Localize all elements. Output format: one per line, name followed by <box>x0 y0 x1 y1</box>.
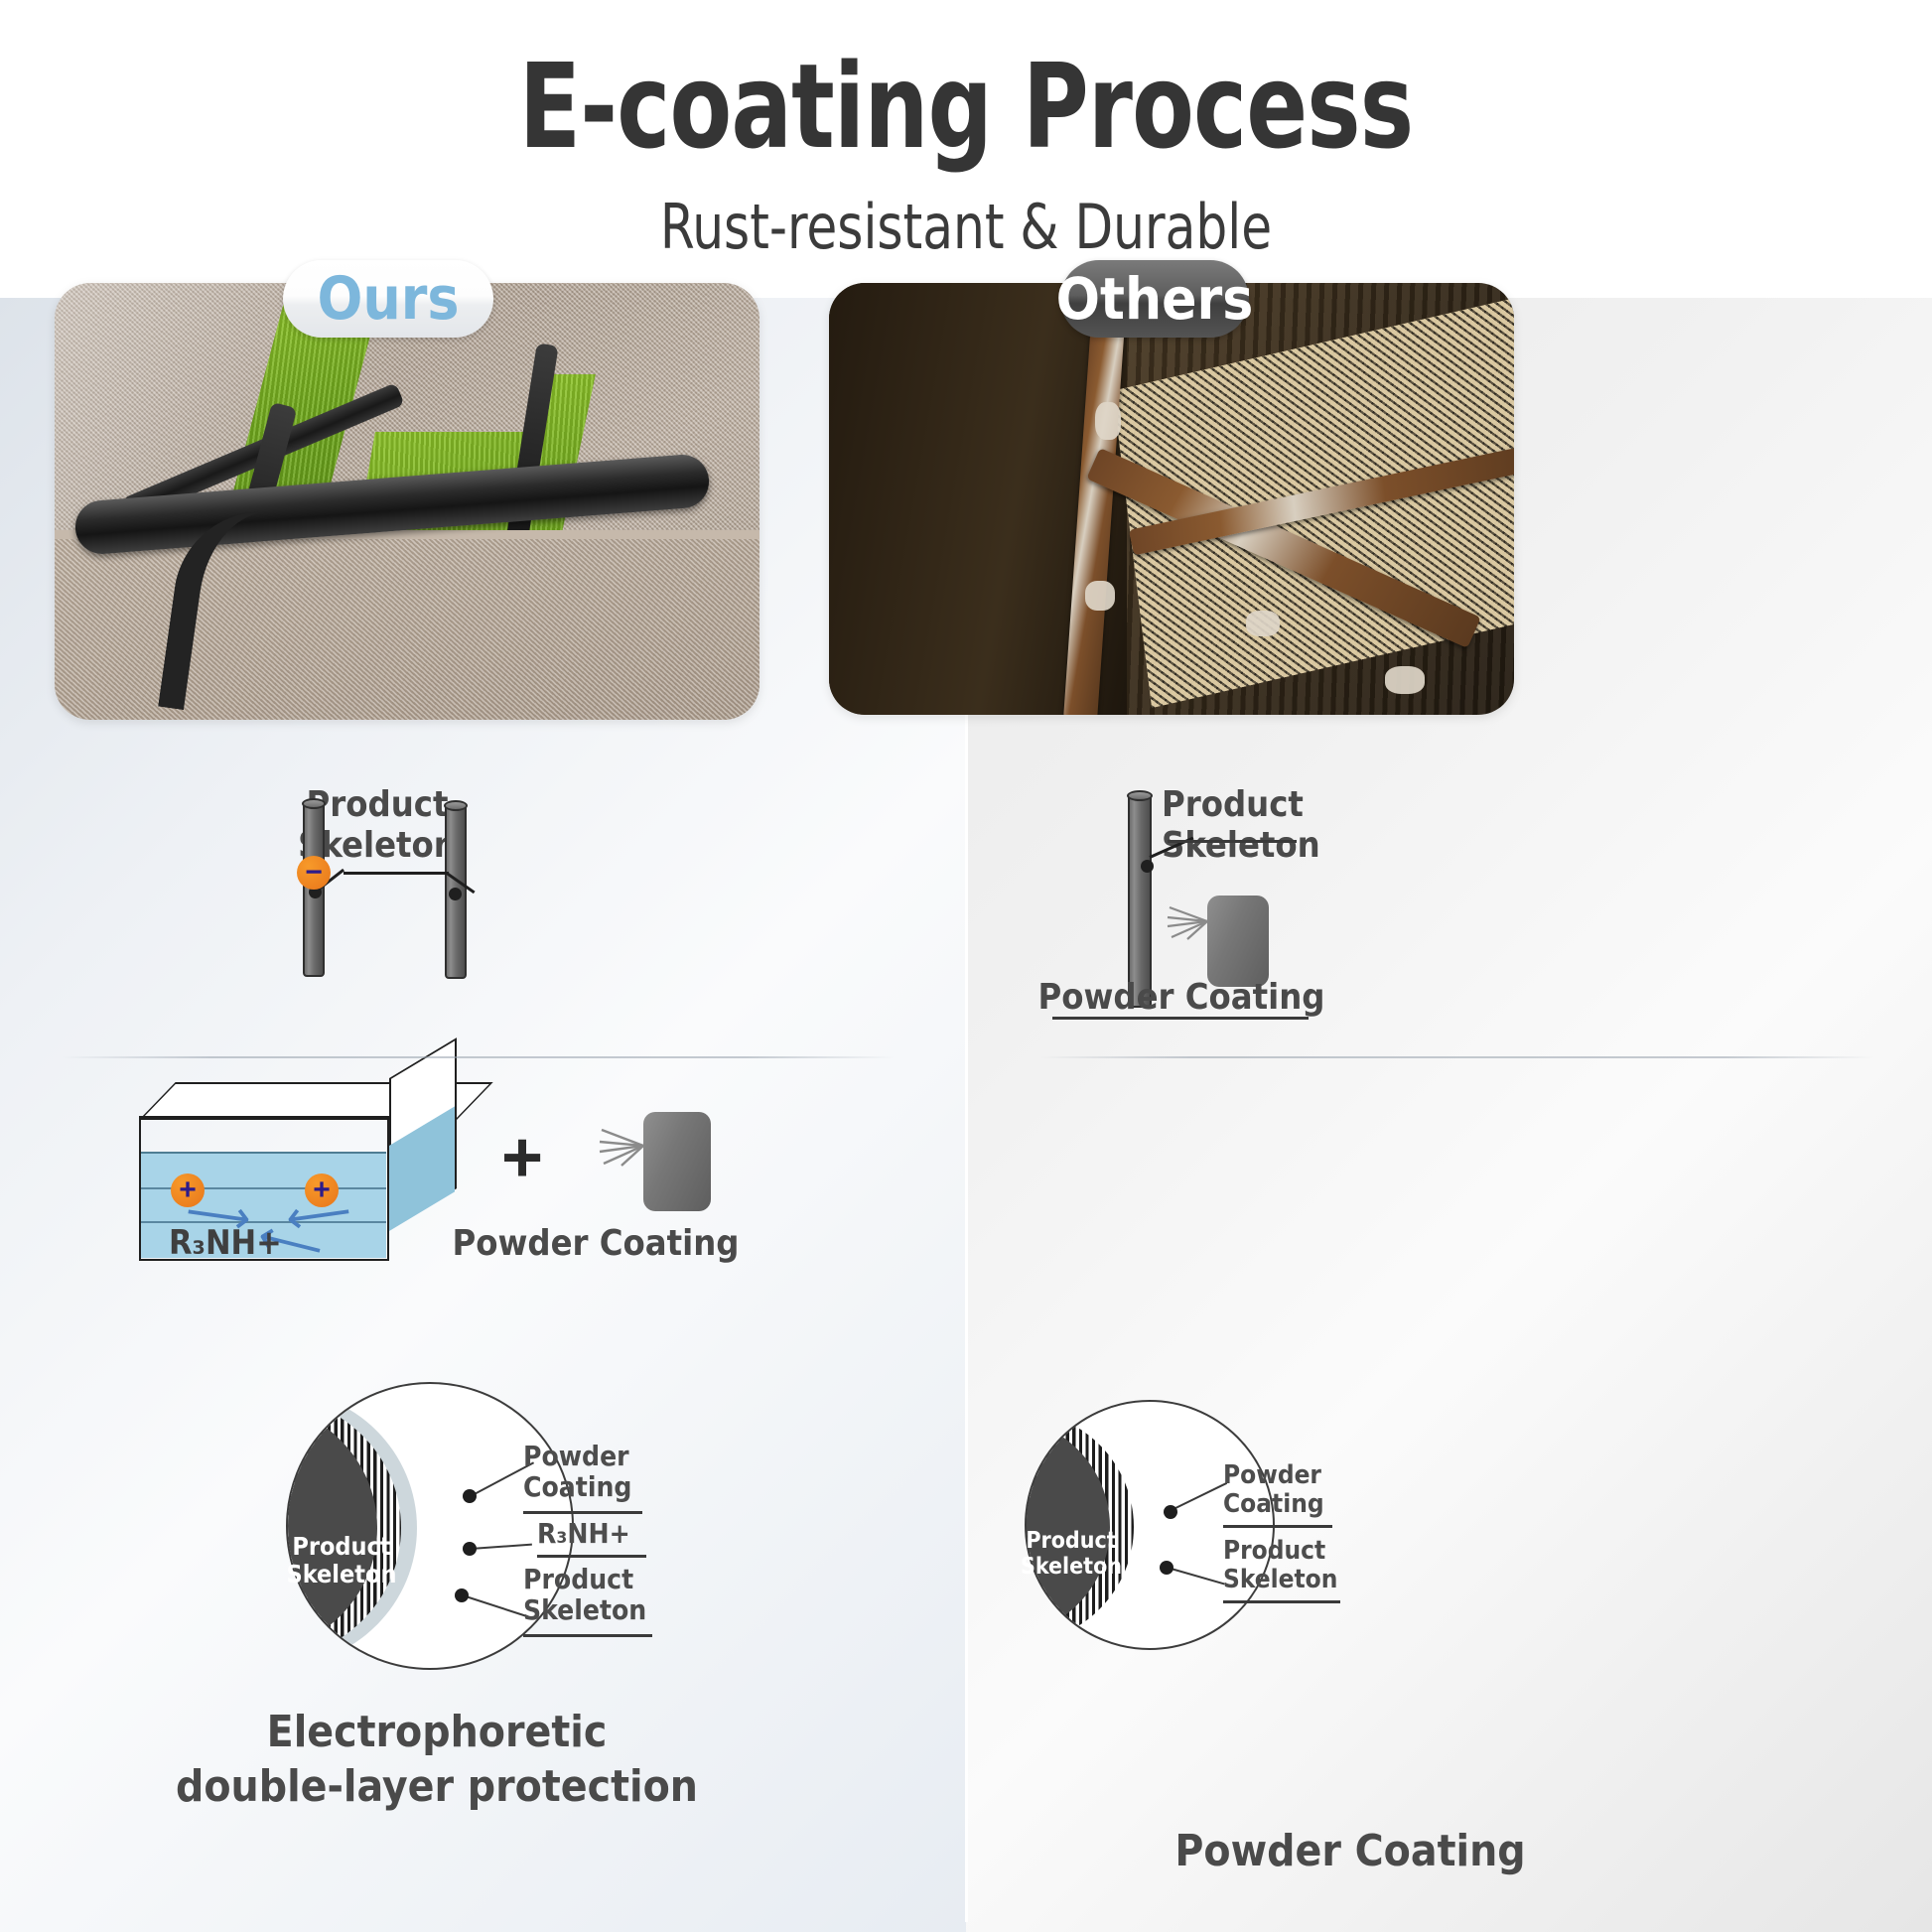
page-subtitle: Rust-resistant & Durable <box>96 191 1835 263</box>
page-title: E-coating Process <box>135 48 1797 165</box>
ours-powder-coating-label: Powder Coating <box>437 1223 755 1264</box>
infographic-root: E-coating Process Rust-resistant & Durab… <box>0 0 1932 1932</box>
xsec-label-underline <box>523 1634 652 1637</box>
xsec-core-label: Product Skeleton <box>262 1533 421 1588</box>
badge-ours: Ours <box>283 260 493 338</box>
xsec-leader-dot <box>463 1542 477 1556</box>
cross-section-ours: Product Skeleton <box>286 1382 574 1670</box>
others-leader-dot <box>1141 860 1154 873</box>
others-spray-jet-icon <box>1160 899 1213 943</box>
others-photo-bg <box>829 283 1514 715</box>
xsec-label-electrolyte: R₃NH+ <box>537 1519 716 1550</box>
anion-plus-icon: + <box>171 1173 205 1207</box>
paint-flake <box>1085 581 1115 611</box>
xsec-core-label: Product Skeleton <box>997 1529 1146 1581</box>
xsec-leader-dot <box>1164 1505 1177 1519</box>
paint-flake <box>1246 611 1280 636</box>
others-skeleton-text-underline <box>1168 840 1297 843</box>
anion-plus-icon: + <box>305 1173 339 1207</box>
xsec-outer-circle <box>286 1382 574 1670</box>
combine-plus-icon: + <box>501 1122 543 1193</box>
others-powder-sprayer-body <box>1207 896 1269 987</box>
cathode-rod-cap <box>302 798 326 809</box>
caption-ours: Electrophoretic double-layer protection <box>99 1706 774 1814</box>
badge-others: Others <box>1060 260 1249 338</box>
xsec-label-product-skeleton: Product Skeleton <box>523 1565 712 1626</box>
photo-ours-chair <box>55 283 759 720</box>
divider-ours <box>62 1056 896 1058</box>
others-powder-coating-label: Powder Coating <box>1013 977 1350 1018</box>
circuit-wire-top <box>344 872 449 875</box>
xsec-label-underline <box>1223 1600 1340 1603</box>
anode-rod-cap <box>444 800 468 811</box>
spray-jet-icon <box>592 1122 649 1170</box>
paint-flake <box>1385 666 1425 694</box>
xsec-label-underline <box>537 1555 646 1558</box>
xsec-label-product-skeleton: Product Skeleton <box>1223 1537 1402 1593</box>
others-skeleton-rod <box>1128 794 1152 1008</box>
header: E-coating Process Rust-resistant & Durab… <box>0 0 1932 298</box>
caption-others: Powder Coating <box>1033 1825 1668 1879</box>
others-powder-underline <box>1052 1017 1309 1020</box>
divider-others <box>1040 1056 1874 1058</box>
paint-flake <box>1095 402 1121 440</box>
electrolysis-tank: + + ⟶ ⟵ ⟵ R₃NH+ <box>139 1082 457 1261</box>
xsec-leader-dot <box>1160 1561 1173 1575</box>
others-skeleton-rod-cap <box>1127 790 1153 801</box>
xsec-leader-dot <box>455 1588 469 1602</box>
powder-sprayer-body <box>643 1112 711 1211</box>
ours-photo-bg <box>55 283 759 720</box>
electrolyte-label: R₃NH+ <box>169 1223 282 1263</box>
cathode-sign-icon: − <box>297 856 331 890</box>
photo-others-rusty <box>829 283 1514 715</box>
xsec-leader-dot <box>463 1489 477 1503</box>
xsec-label-powder-coating: Powder Coating <box>523 1442 702 1503</box>
xsec-label-powder-coating: Powder Coating <box>1223 1461 1392 1518</box>
xsec-label-underline <box>523 1511 642 1514</box>
circuit-node <box>449 888 462 900</box>
others-product-skeleton-label: Product Skeleton <box>1162 784 1420 866</box>
xsec-label-underline <box>1223 1525 1332 1528</box>
